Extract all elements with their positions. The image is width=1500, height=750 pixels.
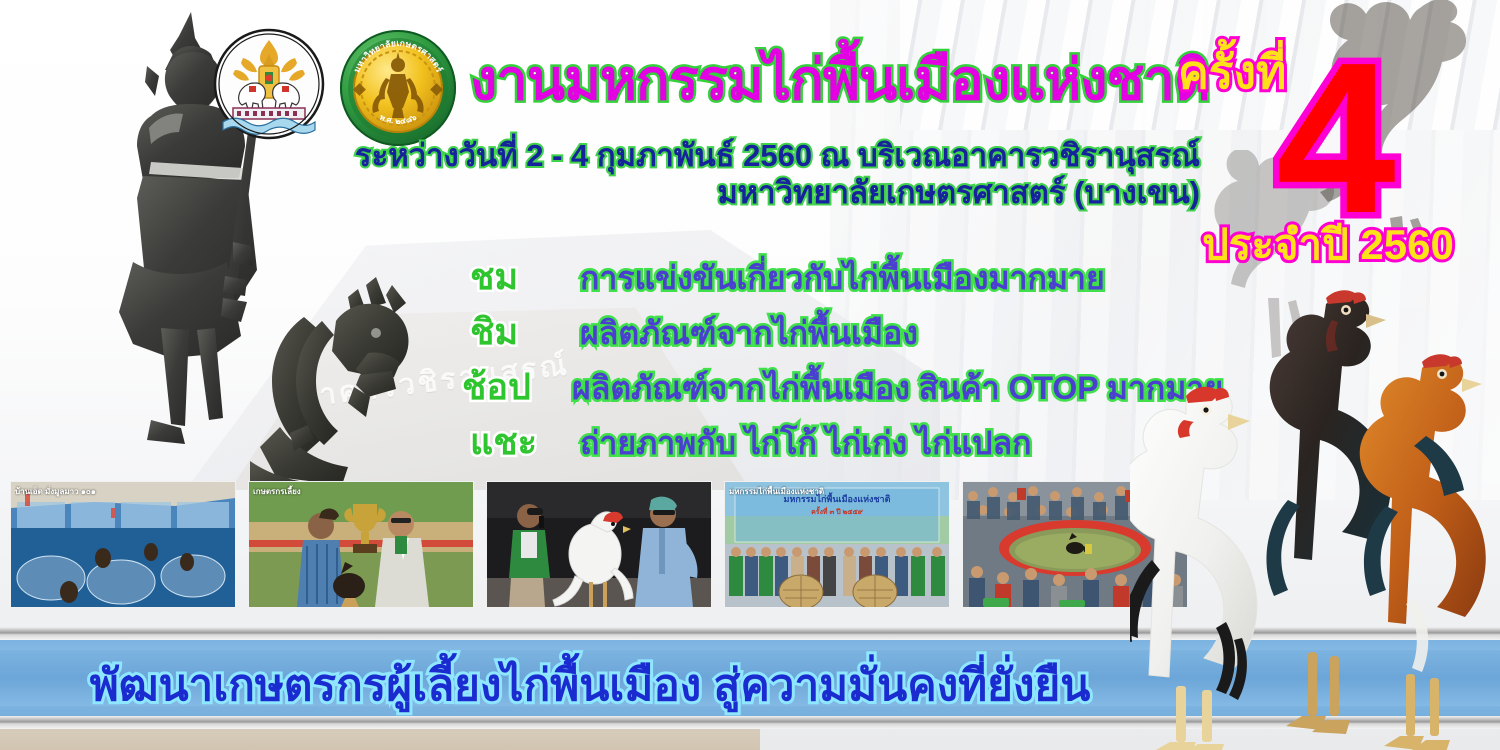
dark-rooster-icon: [1266, 290, 1390, 734]
poster-slogan: พัฒนาเกษตรกรผู้เลี้ยงไก่พื้นเมือง สู่ควา…: [0, 664, 1180, 708]
activity-value: ถ่ายภาพกับ ไก่โก้ ไก่เก่ง ไก่แปลก: [580, 418, 1031, 469]
edition-label: ครั้งที่: [1178, 36, 1286, 109]
event-date-venue: ระหว่างวันที่ 2 - 4 กุมภาพันธ์ 2560 ณ บร…: [180, 138, 1200, 211]
activity-value: ผลิตภัณฑ์จากไก่พื้นเมือง สินค้า OTOP มาก…: [572, 363, 1223, 414]
poster-title: งานมหกรรมไก่พื้นเมืองแห่งชาติ: [470, 52, 1200, 108]
white-rooster-icon: [1130, 387, 1257, 750]
activity-value: การแข่งขันเกี่ยวกับไก่พื้นเมืองมากมาย: [580, 253, 1105, 304]
event-date-line-1: ระหว่างวันที่ 2 - 4 กุมภาพันธ์ 2560 ณ บร…: [180, 138, 1200, 175]
activity-row: ชม การแข่งขันเกี่ยวกับไก่พื้นเมืองมากมาย: [470, 248, 1210, 303]
edition-year: ประจำปี 2560: [1168, 212, 1488, 278]
edition-badge: 4 ครั้งที่ ประจำปี 2560: [1168, 36, 1498, 286]
photo-strip: บ้านเอ็ด มั่งมูลมาว ๑๐๑: [10, 481, 1195, 606]
naga-serpent-sculpture-image: [250, 275, 480, 485]
activity-key: แชะ: [470, 413, 580, 470]
photo-caption: เกษตรกรเลี้ยง: [253, 485, 469, 498]
activity-row: แชะ ถ่ายภาพกับ ไก่โก้ ไก่เก่ง ไก่แปลก: [470, 413, 1210, 468]
photo-trophy-presentation: เกษตรกรเลี้ยง: [248, 481, 474, 608]
foreground-roosters-image: [1130, 270, 1500, 750]
event-date-line-2: มหาวิทยาลัยเกษตรศาสตร์ (บางเขน): [180, 175, 1200, 212]
kasetsart-university-seal-icon: มหาวิทยาลัยเกษตรศาสตร์ พ.ศ. ๒๔๘๖: [338, 28, 458, 148]
photo-caged-chickens: บ้านเอ็ด มั่งมูลมาว ๑๐๑: [10, 481, 236, 608]
activity-key: ชิม: [470, 303, 580, 360]
orange-rooster-icon: [1360, 354, 1486, 750]
activity-key: ชม: [470, 248, 580, 305]
photo-man-holding-rooster: [486, 481, 712, 608]
activity-value: ผลิตภัณฑ์จากไก่พื้นเมือง: [580, 308, 918, 359]
activity-row: ชิม ผลิตภัณฑ์จากไก่พื้นเมือง: [470, 303, 1210, 358]
photo-caption: บ้านเอ็ด มั่งมูลมาว ๑๐๑: [15, 485, 231, 498]
photo-group-with-banner: มหกรรมไก่พื้นเมืองแห่งชาติ ครั้งที่ ๓ ปี…: [724, 481, 950, 608]
activity-list: ชม การแข่งขันเกี่ยวกับไก่พื้นเมืองมากมาย…: [470, 248, 1210, 468]
activity-row: ช้อป ผลิตภัณฑ์จากไก่พื้นเมือง สินค้า OTO…: [470, 358, 1210, 413]
activity-key: ช้อป: [462, 358, 572, 415]
event-poster: อาคารวชิรานุสรณ์: [0, 0, 1500, 750]
photo-caption: มหกรรมไก่พื้นเมืองแห่งชาติ: [729, 485, 945, 498]
department-of-livestock-development-seal-icon: [213, 28, 325, 140]
